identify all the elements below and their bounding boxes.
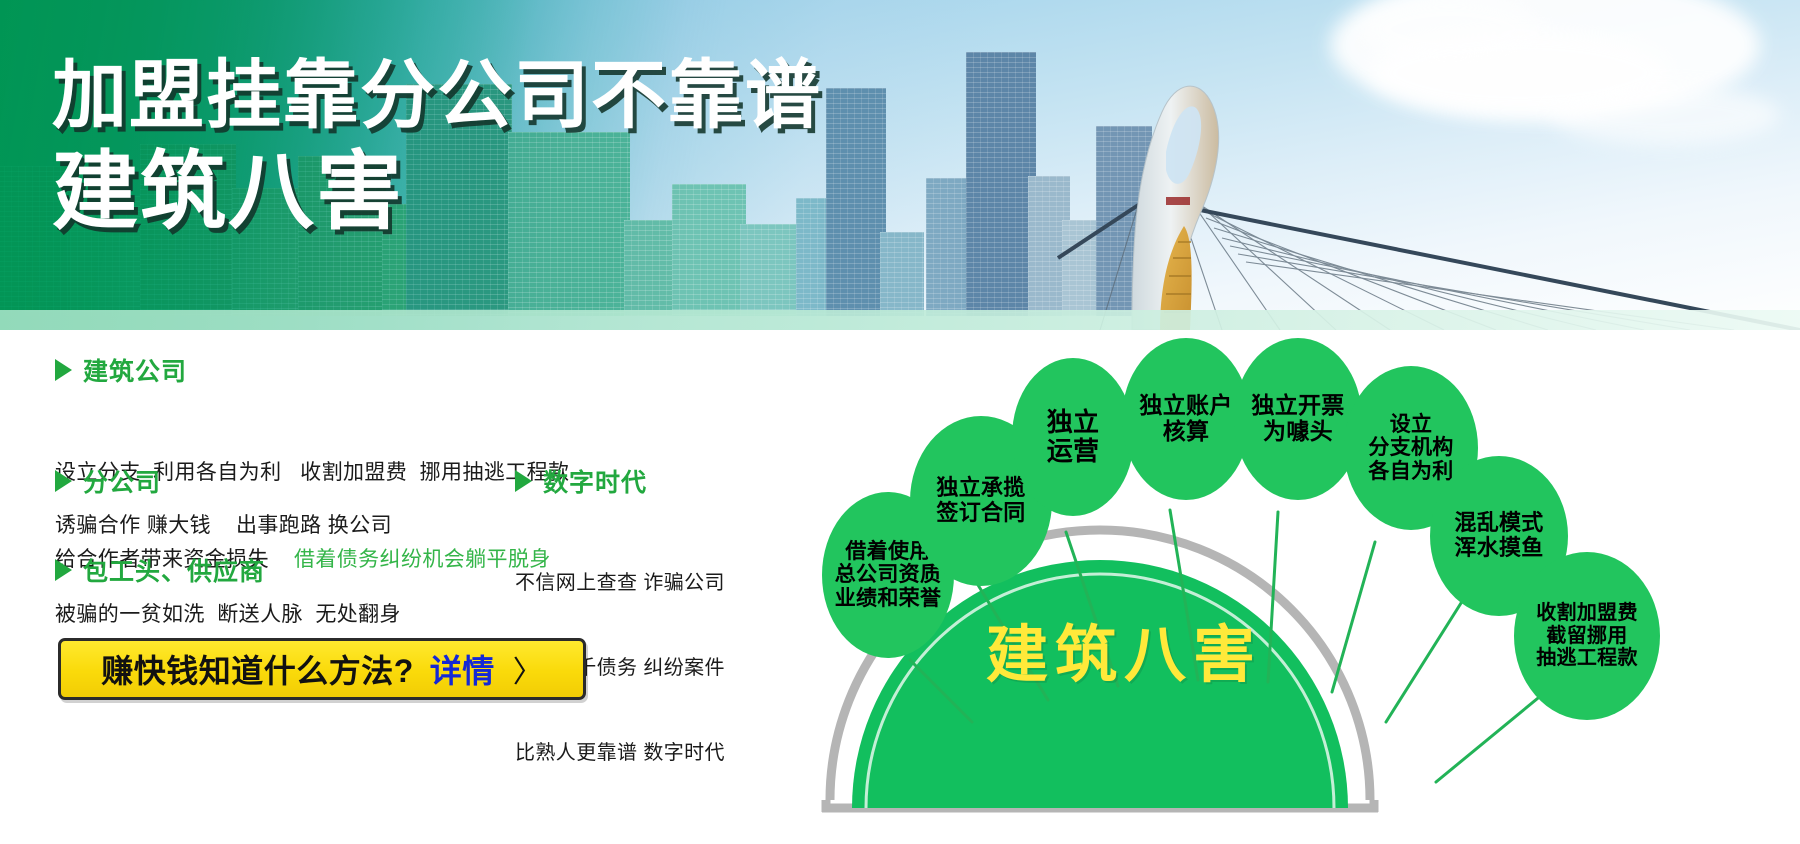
section-contractor-supplier: 包工头、供应商 被骗的一贫如洗 断送人脉 无处翻身: [55, 552, 401, 630]
bubble-line: 浑水摸鱼: [1454, 536, 1543, 561]
triangle-bullet-icon: [55, 359, 72, 381]
section-header: 数字时代: [515, 463, 725, 499]
bubble-line: 总公司资质: [835, 563, 942, 587]
section-branch-company: 分公司 诱骗合作 赚大钱 出事跑路 换公司: [55, 463, 392, 541]
bubble-line: 独立账户: [1139, 393, 1232, 419]
bubble-line: 签订合同: [936, 501, 1025, 526]
bubble-line: 截留挪用: [1536, 625, 1638, 647]
bubble-line: 抽逃工程款: [1536, 647, 1638, 669]
bubble-line: 核算: [1139, 419, 1232, 445]
hero-headline: 加盟挂靠分公司不靠谱 建筑八害: [52, 58, 822, 235]
bubble-line: 分支机构: [1368, 436, 1453, 460]
chevron-right-icon: 〉: [513, 647, 543, 691]
bubble-line: 各自为利: [1368, 460, 1453, 484]
poster-root: 加盟挂靠分公司不靠谱 建筑八害 建筑公司 设立分支 利用各自为利 收割加盟费 挪…: [0, 0, 1800, 844]
headline-line-2: 建筑八害: [52, 149, 822, 235]
bubble-item[interactable]: 收割加盟费截留挪用抽逃工程款: [1514, 552, 1660, 720]
triangle-bullet-icon: [55, 470, 72, 492]
bubble-line: 混乱模式: [1454, 511, 1543, 536]
section-line: 比熟人更靠谱 数字时代: [515, 739, 725, 767]
bubble-item[interactable]: 独立运营: [1012, 358, 1134, 516]
bridge-illustration: [1040, 0, 1800, 330]
bubble-line: 业绩和荣誉: [835, 587, 942, 611]
section-title: 建筑公司: [83, 352, 187, 388]
left-content: 建筑公司 设立分支 利用各自为利 收割加盟费 挪用抽逃工程款 给合作者带来资金损…: [0, 330, 820, 844]
bubble-line: 收割加盟费: [1536, 602, 1638, 624]
section-title: 包工头、供应商: [83, 552, 265, 588]
banner-bottom-strip: [0, 310, 1800, 330]
bubble-line: 独立承揽: [936, 476, 1025, 501]
section-body: 诱骗合作 赚大钱 出事跑路 换公司: [55, 512, 392, 541]
headline-line-1: 加盟挂靠分公司不靠谱: [52, 58, 822, 133]
cta-link-label[interactable]: 详情: [430, 646, 495, 692]
bubble-line: 运营: [1047, 437, 1100, 466]
bubble-line: 独立: [1047, 408, 1100, 437]
section-header: 建筑公司: [55, 352, 569, 388]
triangle-bullet-icon: [55, 559, 72, 581]
section-header: 分公司: [55, 463, 392, 499]
bubble-item[interactable]: 独立账户核算: [1122, 338, 1250, 500]
section-title: 分公司: [83, 463, 161, 499]
bubble-line: 独立开票: [1251, 393, 1344, 419]
eight-harms-diagram: 借着使用总公司资质业绩和荣誉 独立承揽签订合同 独立运营 独立账户核算 独立开票…: [800, 330, 1800, 844]
section-header: 包工头、供应商: [55, 552, 401, 588]
bubble-line: 为噱头: [1251, 419, 1344, 445]
bubble-line: 设立: [1368, 413, 1453, 437]
dome-title: 建筑八害: [986, 604, 1262, 694]
section-title: 数字时代: [543, 463, 647, 499]
cta-label: 赚快钱知道什么方法?: [101, 646, 414, 692]
triangle-bullet-icon: [515, 470, 532, 492]
section-body: 被骗的一贫如洗 断送人脉 无处翻身: [55, 601, 401, 630]
section-line: 不信网上查查 诈骗公司: [515, 569, 725, 597]
bubble-item[interactable]: 独立开票为噱头: [1234, 338, 1362, 500]
hero-banner: 加盟挂靠分公司不靠谱 建筑八害: [0, 0, 1800, 330]
cta-button[interactable]: 赚快钱知道什么方法? 详情 〉: [58, 638, 586, 700]
